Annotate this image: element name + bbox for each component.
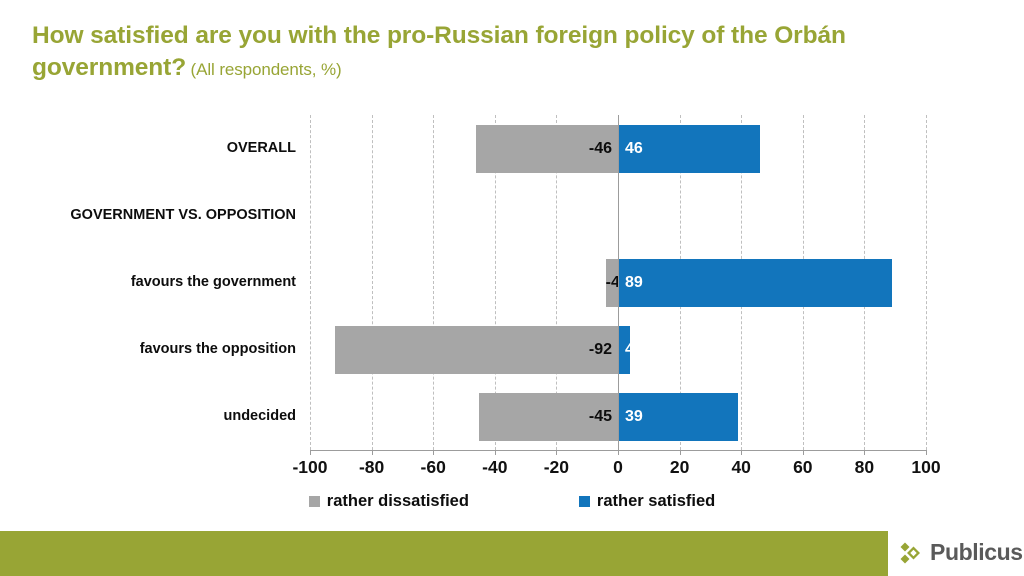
x-axis-tick-label: 80 [834, 457, 894, 478]
x-axis-tick-label: -100 [280, 457, 340, 478]
category-label: favours the government [0, 274, 296, 290]
page-title: How satisfied are you with the pro-Russi… [32, 22, 846, 81]
bar-value-label-satisfied: 89 [625, 275, 892, 292]
bar-value-label-satisfied: 46 [625, 141, 760, 158]
legend-item[interactable]: rather dissatisfied [309, 492, 469, 511]
legend-item[interactable]: rather satisfied [579, 492, 715, 511]
axis-tick [556, 450, 557, 455]
legend-label: rather satisfied [597, 492, 715, 511]
axis-tick [926, 450, 927, 455]
gridline [372, 115, 373, 450]
axis-tick [741, 450, 742, 455]
category-label: GOVERNMENT VS. OPPOSITION [0, 207, 296, 223]
bar-value-label-dissatisfied: -4 [606, 275, 612, 291]
chart-legend: rather dissatisfiedrather satisfied [0, 492, 1024, 511]
gridline [433, 115, 434, 450]
gridline [310, 115, 311, 450]
legend-swatch-icon [309, 496, 320, 507]
axis-tick [618, 450, 619, 455]
bar-value-label-dissatisfied: -46 [476, 141, 612, 157]
axis-tick [433, 450, 434, 455]
publicus-logo: Publicus 15 [898, 539, 1024, 566]
page-subtitle: (All respondents, %) [191, 60, 342, 79]
axis-tick [372, 450, 373, 455]
axis-tick [680, 450, 681, 455]
axis-tick [495, 450, 496, 455]
x-axis-tick-label: 100 [896, 457, 956, 478]
x-axis-tick-label: -40 [465, 457, 525, 478]
bar-value-label-satisfied: 4 [625, 342, 630, 359]
x-axis-tick-label: -20 [526, 457, 586, 478]
diamond-logo-icon [898, 540, 924, 566]
footer-color-band [0, 531, 888, 576]
gridline [926, 115, 927, 450]
category-label: favours the opposition [0, 341, 296, 357]
legend-label: rather dissatisfied [327, 492, 469, 511]
x-axis-tick-label: 20 [650, 457, 710, 478]
diverging-bar-chart: -100-80-60-40-20020406080100OVERALL-4646… [0, 104, 1024, 524]
x-axis-tick-label: 40 [711, 457, 771, 478]
axis-tick [803, 450, 804, 455]
bar-value-label-dissatisfied: -92 [335, 342, 612, 358]
category-label: OVERALL [0, 140, 296, 156]
logo-wordmark: Publicus [930, 539, 1023, 566]
axis-tick [310, 450, 311, 455]
x-axis-tick-label: 0 [588, 457, 648, 478]
footer: Publicus 15 [0, 531, 1024, 576]
category-label: undecided [0, 408, 296, 424]
bar-value-label-dissatisfied: -45 [479, 409, 612, 425]
bar-value-label-satisfied: 39 [625, 409, 738, 426]
x-axis-tick-label: 60 [773, 457, 833, 478]
axis-tick [864, 450, 865, 455]
x-axis-tick-label: -60 [403, 457, 463, 478]
axis-zero-line [618, 115, 619, 450]
legend-swatch-icon [579, 496, 590, 507]
x-axis-tick-label: -80 [342, 457, 402, 478]
title-block: How satisfied are you with the pro-Russi… [32, 20, 992, 85]
